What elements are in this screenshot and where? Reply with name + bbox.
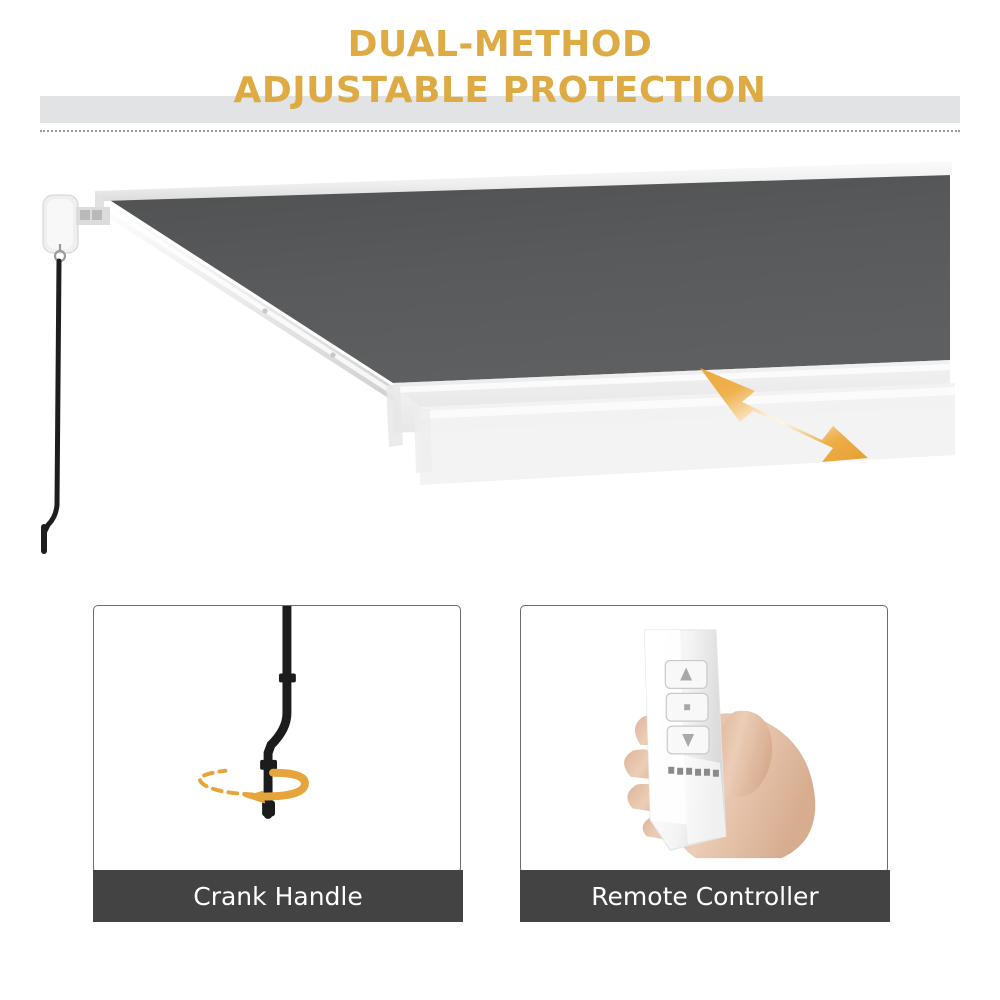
panel-crank-handle[interactable]: Crank Handle bbox=[93, 600, 463, 922]
crank-handle-art bbox=[94, 606, 460, 872]
awning-illustration bbox=[0, 155, 1000, 575]
remote-controller-art bbox=[521, 606, 887, 872]
feature-panels: Crank Handle bbox=[0, 600, 1000, 930]
rod-collar-lower bbox=[260, 760, 277, 770]
panel-frame-crank bbox=[93, 605, 461, 873]
remote-buttons[interactable] bbox=[665, 661, 709, 754]
header-divider bbox=[40, 130, 960, 132]
page-title: DUAL-METHOD ADJUSTABLE PROTECTION bbox=[0, 22, 1000, 114]
crank-rod bbox=[44, 261, 59, 551]
panel-remote-controller[interactable]: Remote Controller bbox=[520, 600, 890, 922]
panel-frame-remote bbox=[520, 605, 888, 873]
dot-icon bbox=[684, 704, 690, 710]
rod-collar-upper bbox=[279, 673, 296, 682]
panel-caption-crank: Crank Handle bbox=[93, 870, 463, 922]
product-feature-graphic: DUAL-METHOD ADJUSTABLE PROTECTION bbox=[0, 0, 1000, 1000]
title-line-2: ADJUSTABLE PROTECTION bbox=[0, 68, 1000, 114]
rotation-arrow-icon bbox=[200, 771, 305, 804]
crank-rod-shape bbox=[268, 606, 287, 814]
panel-caption-remote: Remote Controller bbox=[520, 870, 890, 922]
title-line-1: DUAL-METHOD bbox=[0, 22, 1000, 68]
